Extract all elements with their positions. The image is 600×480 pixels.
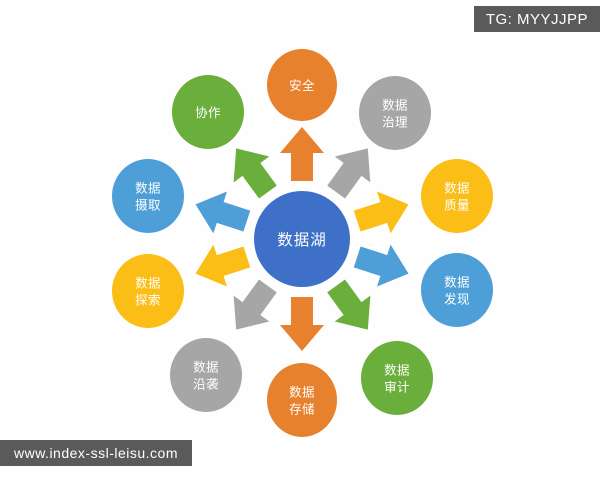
watermark-bottom-left: www.index-ssl-leisu.com: [0, 440, 192, 466]
arrow-security: [280, 127, 324, 181]
arrow-collaboration-shape: [218, 135, 285, 205]
node-data-exploration[interactable]: 数据探索: [112, 254, 184, 328]
node-data-quality-label-line-1: 数据: [444, 181, 470, 196]
node-collaboration[interactable]: 协作: [172, 75, 244, 149]
node-data-ingestion[interactable]: 数据摄取: [112, 159, 184, 233]
arrow-data-storage-shape: [280, 297, 324, 351]
node-data-storage-circle: [267, 363, 337, 437]
node-data-ingestion-label-line-1: 数据: [135, 181, 161, 196]
node-security[interactable]: 安全: [267, 49, 337, 121]
node-collaboration-label-line-1: 协作: [195, 105, 221, 120]
diagram-stage: 数据湖安全数据治理数据质量数据发现数据审计数据存储数据沿袭数据探索数据摄取协作 …: [0, 0, 600, 480]
arrow-data-audit-shape: [318, 273, 385, 343]
node-data-exploration-circle: [112, 254, 184, 328]
node-data-governance-label-line-1: 数据: [382, 98, 408, 113]
arrow-data-governance: [318, 135, 385, 205]
nodes-layer: 数据湖安全数据治理数据质量数据发现数据审计数据存储数据沿袭数据探索数据摄取协作: [112, 49, 493, 437]
node-data-audit-label-line-1: 数据: [384, 363, 410, 378]
arrow-data-governance-shape: [318, 135, 385, 205]
arrow-data-ingestion-shape: [189, 183, 254, 242]
arrow-data-quality-shape: [350, 183, 415, 242]
node-data-governance[interactable]: 数据治理: [359, 76, 431, 150]
arrow-data-discovery: [350, 236, 415, 295]
node-data-discovery[interactable]: 数据发现: [421, 253, 493, 327]
node-data-storage-label-line-1: 数据: [289, 385, 315, 400]
arrow-data-lineage-shape: [218, 273, 285, 343]
data-lake-radial-diagram: 数据湖安全数据治理数据质量数据发现数据审计数据存储数据沿袭数据探索数据摄取协作: [0, 0, 600, 480]
node-data-lineage-label-line-2: 沿袭: [193, 377, 219, 392]
node-data-discovery-label-line-2: 发现: [444, 292, 470, 307]
arrow-data-ingestion: [189, 183, 254, 242]
arrow-security-shape: [280, 127, 324, 181]
hub-node-data-lake[interactable]: 数据湖: [254, 191, 350, 287]
watermark-top-right: TG: MYYJJPP: [474, 6, 600, 32]
node-data-discovery-circle: [421, 253, 493, 327]
arrow-data-discovery-shape: [350, 236, 415, 295]
node-data-audit-circle: [361, 341, 433, 415]
hub-label: 数据湖: [277, 231, 327, 249]
node-data-ingestion-label-line-2: 摄取: [135, 198, 161, 213]
arrow-collaboration: [218, 135, 285, 205]
arrow-data-storage: [280, 297, 324, 351]
arrow-data-lineage: [218, 273, 285, 343]
node-data-governance-label-line-2: 治理: [382, 116, 408, 130]
arrow-data-audit: [318, 273, 385, 343]
node-data-lineage[interactable]: 数据沿袭: [170, 338, 242, 412]
node-data-ingestion-circle: [112, 159, 184, 233]
node-data-exploration-label-line-1: 数据: [135, 276, 161, 291]
node-data-quality[interactable]: 数据质量: [421, 159, 493, 233]
node-data-storage[interactable]: 数据存储: [267, 363, 337, 437]
node-data-lineage-circle: [170, 338, 242, 412]
node-data-audit-label-line-2: 审计: [384, 380, 410, 395]
node-data-exploration-label-line-2: 探索: [135, 294, 161, 308]
node-data-audit[interactable]: 数据审计: [361, 341, 433, 415]
node-data-storage-label-line-2: 存储: [289, 402, 315, 417]
node-data-governance-circle: [359, 76, 431, 150]
node-data-quality-label-line-2: 质量: [444, 199, 470, 213]
arrow-data-exploration-shape: [189, 236, 254, 295]
node-data-quality-circle: [421, 159, 493, 233]
node-data-lineage-label-line-1: 数据: [193, 360, 219, 375]
node-security-label-line-1: 安全: [289, 78, 315, 93]
arrow-data-exploration: [189, 236, 254, 295]
node-data-discovery-label-line-1: 数据: [444, 275, 470, 290]
arrow-data-quality: [350, 183, 415, 242]
